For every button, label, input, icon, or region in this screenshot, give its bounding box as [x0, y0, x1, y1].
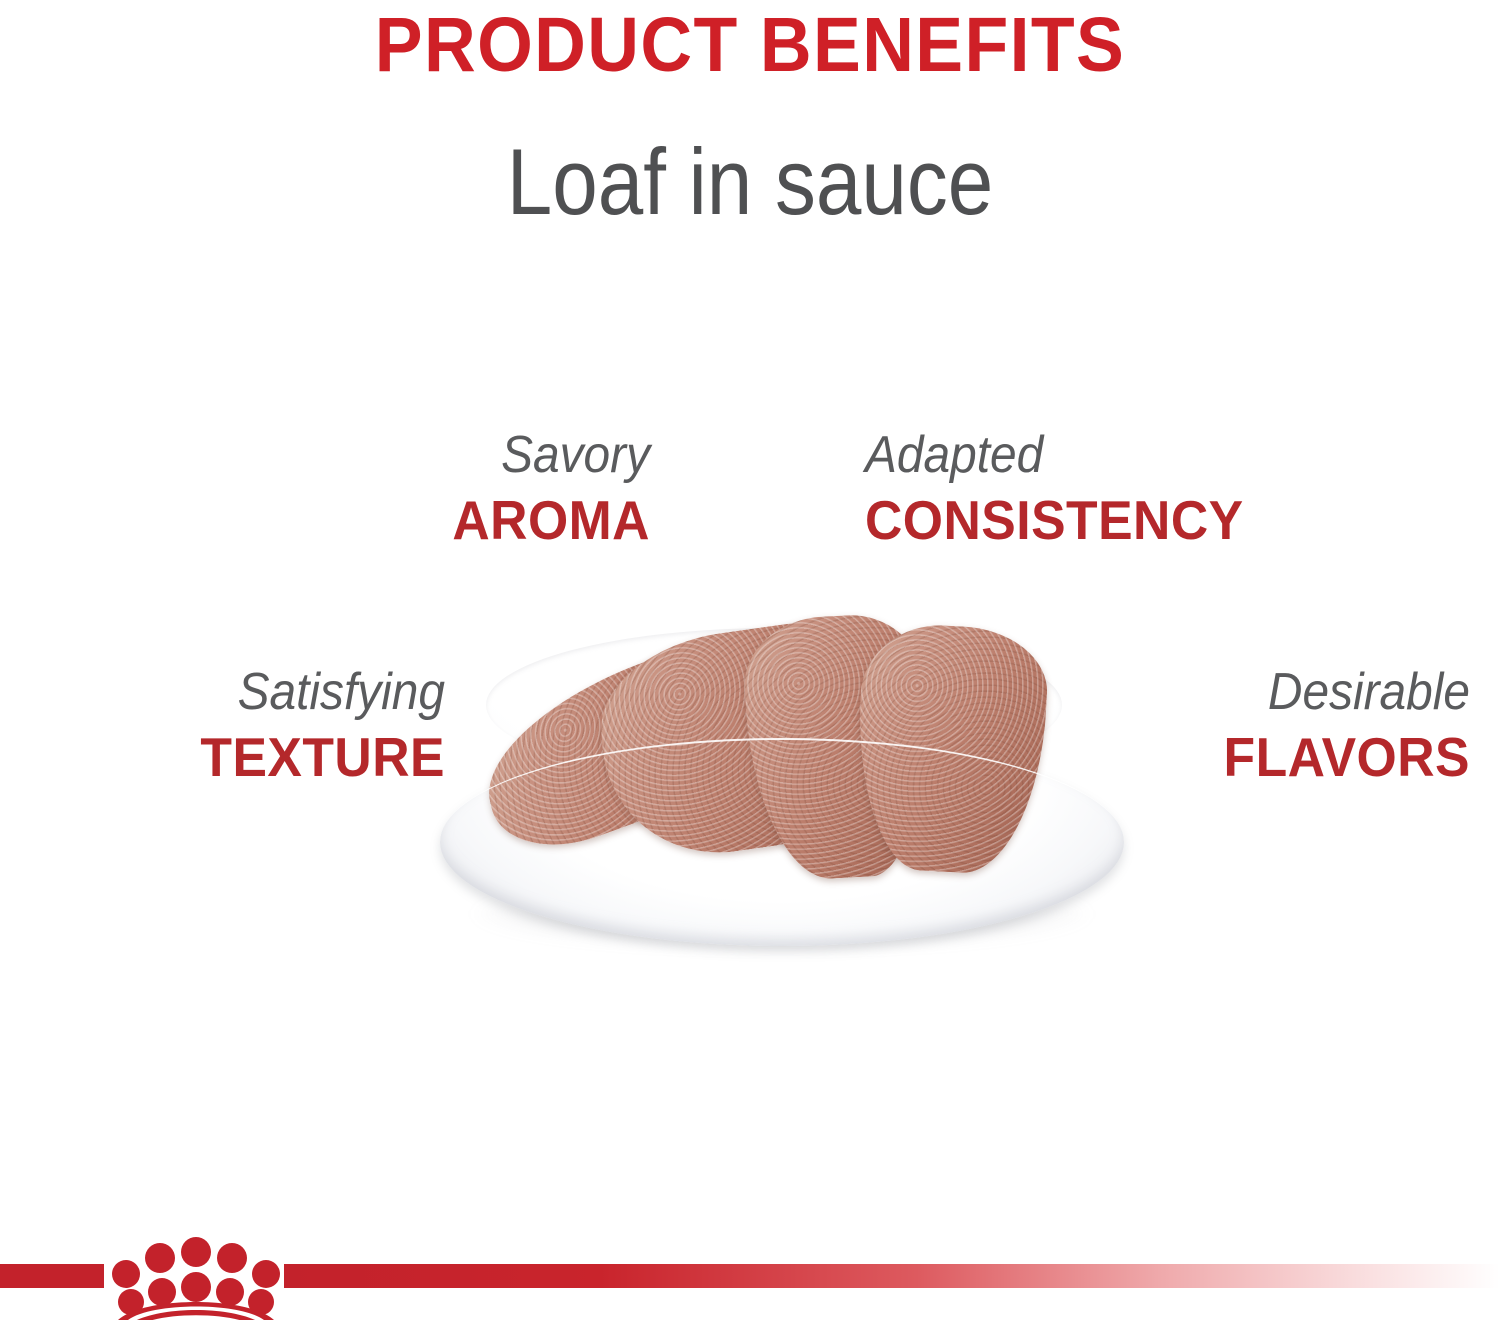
header: PRODUCT BENEFITS Loaf in sauce — [0, 0, 1500, 234]
product-benefits-page: PRODUCT BENEFITS Loaf in sauce Savory AR… — [0, 0, 1500, 1320]
benefit-consistency: Adapted CONSISTENCY — [865, 425, 1345, 551]
benefit-texture-adjective: Satisfying — [13, 662, 445, 722]
page-title: PRODUCT BENEFITS — [53, 0, 1448, 88]
brand-footer-bar — [0, 1264, 1500, 1320]
benefit-consistency-noun: CONSISTENCY — [865, 485, 1316, 551]
brand-bar-right — [284, 1264, 1500, 1288]
benefit-aroma-noun: AROMA — [208, 485, 650, 551]
benefit-texture: Satisfying TEXTURE — [0, 662, 445, 788]
benefit-aroma: Savory AROMA — [180, 425, 650, 551]
brand-bar-left — [0, 1264, 104, 1288]
royal-canin-crown-icon — [104, 1226, 288, 1320]
page-subtitle: Loaf in sauce — [98, 88, 1403, 234]
product-image — [432, 610, 1132, 980]
benefit-texture-noun: TEXTURE — [3, 722, 445, 788]
benefit-aroma-adjective: Savory — [218, 425, 650, 485]
benefit-consistency-adjective: Adapted — [865, 425, 1307, 485]
